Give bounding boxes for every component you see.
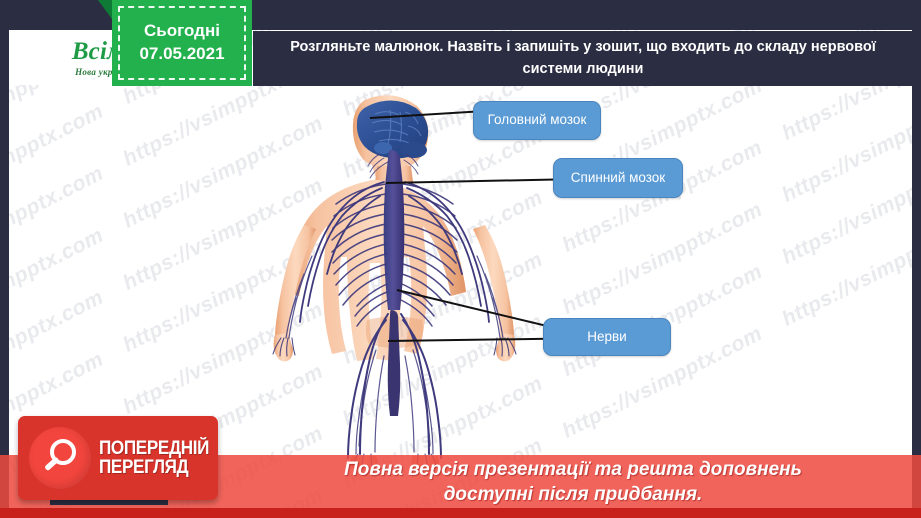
human-nervous-system-figure xyxy=(272,88,517,470)
preview-badge-label: ПОПЕРЕДНІЙ ПЕРЕГЛЯД xyxy=(99,439,221,478)
slide-title-bar: Розгляньте малюнок. Назвіть і запишіть у… xyxy=(253,31,913,86)
preview-badge[interactable]: ПОПЕРЕДНІЙ ПЕРЕГЛЯД xyxy=(18,416,218,500)
purchase-notice-line1: Повна версія презентації та решта доповн… xyxy=(344,458,802,483)
purchase-notice-text: Повна версія презентації та решта доповн… xyxy=(344,458,802,507)
right-frame-bar xyxy=(912,0,921,518)
callout-nerves[interactable]: Нерви xyxy=(543,318,671,356)
preview-badge-line1: ПОПЕРЕДНІЙ xyxy=(99,439,209,458)
callout-spinal-cord[interactable]: Спинний мозок xyxy=(553,158,683,198)
purchase-notice-line2: доступні після придбання. xyxy=(344,483,802,508)
bottom-red-strip xyxy=(0,508,921,518)
presentation-slide: Головний мозок Спинний мозок Нерви https… xyxy=(0,0,921,518)
today-date-ribbon: Сьогодні 07.05.2021 xyxy=(112,0,252,86)
magnifier-icon xyxy=(29,427,91,489)
ribbon-date-value: 07.05.2021 xyxy=(139,43,224,66)
callout-brain[interactable]: Головний мозок xyxy=(473,101,601,140)
spinal-cord xyxy=(384,150,405,416)
ribbon-today-label: Сьогодні xyxy=(144,20,220,43)
preview-badge-line2: ПЕРЕГЛЯД xyxy=(99,458,209,477)
left-frame-bar xyxy=(0,0,9,518)
slide-title-text: Розгляньте малюнок. Назвіть і запишіть у… xyxy=(267,37,899,79)
